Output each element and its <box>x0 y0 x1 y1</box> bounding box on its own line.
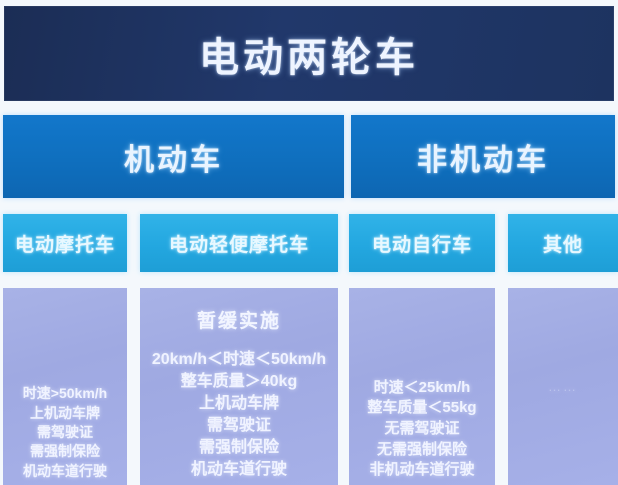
detail-line: 需强制保险 <box>199 437 279 459</box>
category-label-motor-vehicle: 机动车 <box>124 135 223 179</box>
detail-line: 上机动车牌 <box>30 404 100 423</box>
detail-line: 需驾驶证 <box>207 415 271 437</box>
detail-line: 需驾驶证 <box>37 423 93 442</box>
detail-line-list: 20km/h＜时速＜50km/h 整车质量＞40kg 上机动车牌 需驾驶证 需强… <box>140 349 338 481</box>
subtype-label-electric-bicycle: 电动自行车 <box>372 230 472 257</box>
subtype-label-other: 其他 <box>543 230 583 257</box>
category-label-non-motor-vehicle: 非机动车 <box>417 135 549 179</box>
ellipsis-text: …… <box>548 379 578 394</box>
electric-two-wheeler-infographic: 电动两轮车 机动车 非机动车 电动摩托车 电动轻便摩托车 电动自行车 其他 时速… <box>0 0 618 485</box>
subtype-label-electric-moped: 电动轻便摩托车 <box>169 230 309 257</box>
detail-panel-heading: 暂缓实施 <box>197 306 281 333</box>
detail-panel-electric-bicycle: 时速＜25km/h 整车质量＜55kg 无需驾驶证 无需强制保险 非机动车道行驶 <box>349 288 495 485</box>
detail-line: 整车质量＞40kg <box>181 371 297 393</box>
detail-line-list: 时速＜25km/h 整车质量＜55kg 无需驾驶证 无需强制保险 非机动车道行驶 <box>349 378 495 481</box>
detail-line: 整车质量＜55kg <box>367 398 476 419</box>
page-title: 电动两轮车 <box>199 25 419 83</box>
detail-line: 上机动车牌 <box>199 393 279 415</box>
subtype-label-electric-motorcycle: 电动摩托车 <box>15 230 115 257</box>
subtype-box-other: 其他 <box>508 214 618 272</box>
detail-line: 时速＜25km/h <box>374 378 471 399</box>
subtype-box-electric-bicycle: 电动自行车 <box>349 214 495 272</box>
detail-line: 非机动车道行驶 <box>369 460 474 481</box>
detail-line: 无需强制保险 <box>377 440 467 461</box>
detail-line: 20km/h＜时速＜50km/h <box>152 349 326 371</box>
subtype-box-electric-moped: 电动轻便摩托车 <box>140 214 338 272</box>
detail-line: 需强制保险 <box>30 442 100 461</box>
title-banner: 电动两轮车 <box>4 6 614 101</box>
detail-panel-electric-motorcycle: 时速>50km/h 上机动车牌 需驾驶证 需强制保险 机动车道行驶 <box>3 288 127 485</box>
detail-panel-other: …… <box>508 288 618 485</box>
detail-line: 无需驾驶证 <box>384 419 459 440</box>
detail-line: 机动车道行驶 <box>191 459 287 481</box>
subtype-box-electric-motorcycle: 电动摩托车 <box>3 214 127 272</box>
category-box-non-motor-vehicle: 非机动车 <box>351 115 615 198</box>
detail-line-list: 时速>50km/h 上机动车牌 需驾驶证 需强制保险 机动车道行驶 <box>3 384 127 481</box>
detail-panel-electric-moped: 暂缓实施 20km/h＜时速＜50km/h 整车质量＞40kg 上机动车牌 需驾… <box>140 288 338 485</box>
category-box-motor-vehicle: 机动车 <box>3 115 344 198</box>
detail-line: 时速>50km/h <box>23 384 107 403</box>
detail-line: 机动车道行驶 <box>23 462 107 481</box>
